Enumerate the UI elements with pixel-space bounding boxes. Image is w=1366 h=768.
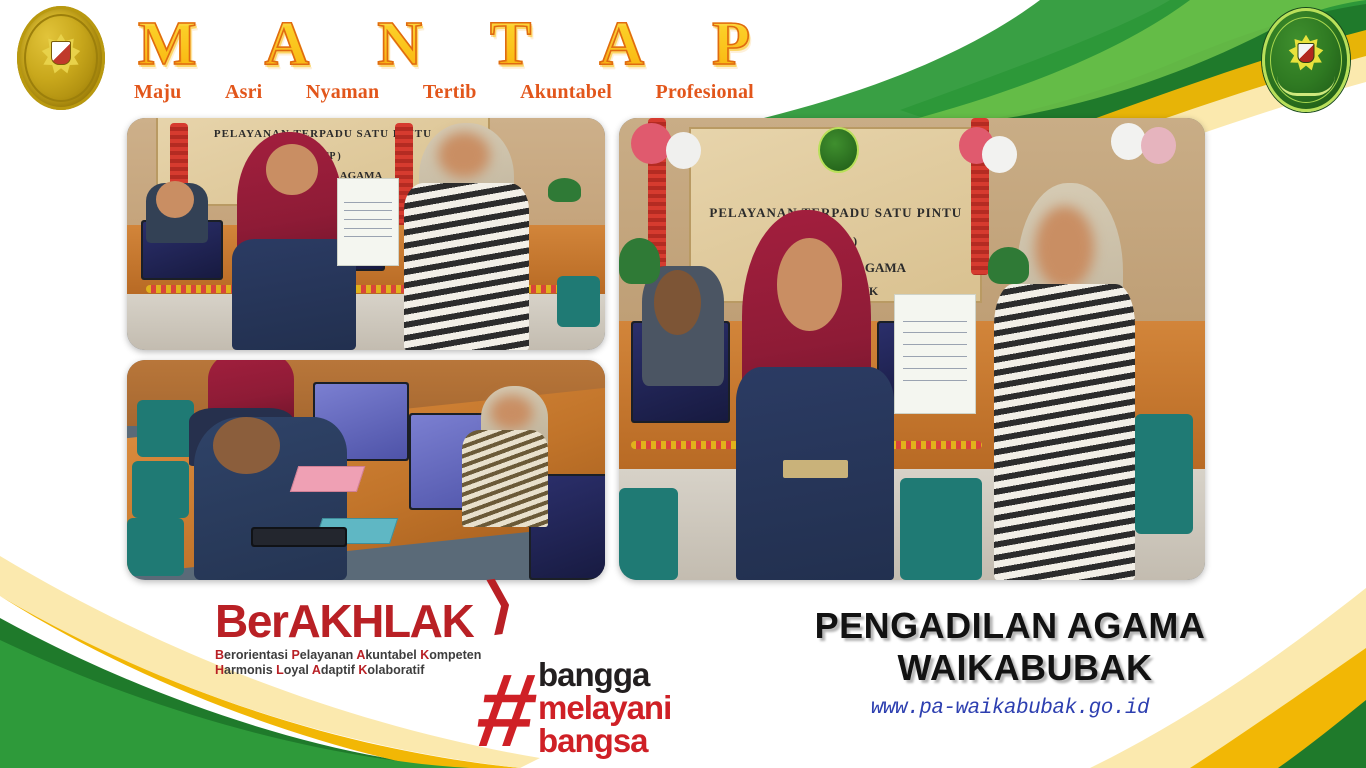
waiting-chair-1 <box>137 400 194 457</box>
berakhlak-wordmark: BerAKHLAK <box>215 598 515 644</box>
bmb-lines: bangga melayani bangsa <box>538 658 671 757</box>
staff-face <box>654 270 701 335</box>
officer-name-tag <box>783 460 847 478</box>
mantap-letters: M A N T A P <box>134 13 754 75</box>
mantap-letter-a1: A <box>265 13 310 75</box>
mantap-letter-n: N <box>377 13 422 75</box>
berakhlak-values-line-2: Harmonis Loyal Adaptif Kolaboratif <box>215 663 515 678</box>
gallery-photo-right: logo PELAYANAN TERPADU SATU PINTU ( PTSP… <box>619 118 1205 580</box>
mahkamah-agung-seal-icon: MAHKAMAH AGUNG REPUBLIK INDONESIA <box>17 6 105 110</box>
staff-face <box>156 181 194 218</box>
photo-scene <box>127 360 605 580</box>
decor-plant <box>619 238 660 284</box>
mantap-words: Maju Asri Nyaman Tertib Akuntabel Profes… <box>134 81 754 104</box>
value-initial-b: B <box>215 648 224 662</box>
mantap-letter-m: M <box>138 13 197 75</box>
bmb-line-melayani: melayani <box>538 691 671 724</box>
value-rest-akuntabel: kuntabel <box>365 648 416 662</box>
photo-scene: logo PELAYANAN TERPADU SATU PINTU ( PTSP… <box>619 118 1205 580</box>
value-initial-l: L <box>276 663 284 677</box>
value-initial-k: K <box>420 648 429 662</box>
value-rest-kolaboratif: olaboratif <box>367 663 424 677</box>
mantap-word-tertib: Tertib <box>423 81 477 104</box>
officer-face <box>266 144 319 195</box>
mantap-word-nyaman: Nyaman <box>306 81 379 104</box>
bmb-line-bangga: bangga <box>538 658 671 691</box>
gallery-photo-top-left: PELAYANAN TERPADU SATU PINTU ( PTSP ) PE… <box>127 118 605 350</box>
value-initial-h: H <box>215 663 224 677</box>
mantap-acronym-block: M A N T A P Maju Asri Nyaman Tertib Akun… <box>134 13 754 104</box>
mantap-word-asri: Asri <box>225 81 262 104</box>
mantap-letter-t: T <box>490 13 531 75</box>
handed-document <box>894 294 976 414</box>
mantap-word-profesional: Profesional <box>655 81 754 104</box>
visitor-striped-outfit <box>462 430 548 527</box>
mantap-word-maju: Maju <box>134 81 181 104</box>
value-rest-kompeten: ompeten <box>429 648 481 662</box>
waiting-chair-2 <box>132 461 189 518</box>
pa-seal-shield <box>1298 43 1315 63</box>
value-rest-berorientasi: erorientasi <box>224 648 288 662</box>
berakhlak-values-line-1: Berorientasi Pelayanan Akuntabel Kompete… <box>215 648 515 663</box>
photo-scene: PELAYANAN TERPADU SATU PINTU ( PTSP ) PE… <box>127 118 605 350</box>
mantap-letter-a2: A <box>599 13 644 75</box>
gallery-photo-bottom-left: Petugas membantu pengguna layanan di mej… <box>127 360 605 580</box>
staff-face <box>213 417 280 474</box>
visitor-striped-outfit <box>404 183 528 350</box>
visitor-striped-outfit <box>994 284 1135 580</box>
institution-title-line-2: WAIKABUBAK <box>760 647 1260 689</box>
poster-canvas: MAHKAMAH AGUNG REPUBLIK INDONESIA PENGAD… <box>0 0 1366 768</box>
value-rest-pelayanan: elayanan <box>300 648 354 662</box>
value-initial-p: P <box>291 648 299 662</box>
waiting-chair-3 <box>127 518 184 575</box>
seal-shield <box>51 41 71 65</box>
visitor-face-blurred <box>1035 206 1094 289</box>
signboard-line1: PELAYANAN TERPADU SATU PINTU <box>691 205 980 221</box>
bmb-line-bangsa: bangsa <box>538 724 671 757</box>
balloon-pink-3 <box>1141 127 1176 164</box>
guest-chair <box>900 478 982 580</box>
officer-face <box>777 238 841 330</box>
waiting-chair <box>557 276 600 327</box>
waiting-chair-right <box>1135 414 1194 534</box>
waiting-chair <box>619 488 678 580</box>
berakhlak-logo: BerAKHLAK ❯ Berorientasi Pelayanan Akunt… <box>215 598 515 678</box>
decor-plant-2 <box>988 247 1029 284</box>
value-initial-a: A <box>356 648 365 662</box>
desk-mat-pink <box>290 466 365 492</box>
value-rest-loyal: oyal <box>284 663 309 677</box>
decor-plant <box>548 178 581 201</box>
pengadilan-agama-seal-icon: PENGADILAN AGAMA WAIKABUBAK <box>1262 8 1350 112</box>
berakhlak-values: Berorientasi Pelayanan Akuntabel Kompete… <box>215 648 515 678</box>
institution-title-line-1: PENGADILAN AGAMA <box>760 605 1260 647</box>
value-rest-adaptif: daptif <box>321 663 355 677</box>
institution-title-block: PENGADILAN AGAMA WAIKABUBAK www.pa-waika… <box>760 605 1260 720</box>
bangga-melayani-bangsa-logo: # bangga melayani bangsa <box>478 658 718 763</box>
balloon-white-1 <box>666 132 701 169</box>
keyboard <box>251 527 347 547</box>
value-rest-harmonis: armonis <box>224 663 273 677</box>
mantap-word-akuntabel: Akuntabel <box>520 81 612 104</box>
balloon-pink-1 <box>631 123 672 165</box>
institution-website-url[interactable]: www.pa-waikabubak.go.id <box>760 697 1260 720</box>
handed-document <box>337 178 399 266</box>
mantap-letter-p: P <box>712 13 750 75</box>
value-initial-a2: A <box>312 663 321 677</box>
room-floor <box>127 294 605 350</box>
